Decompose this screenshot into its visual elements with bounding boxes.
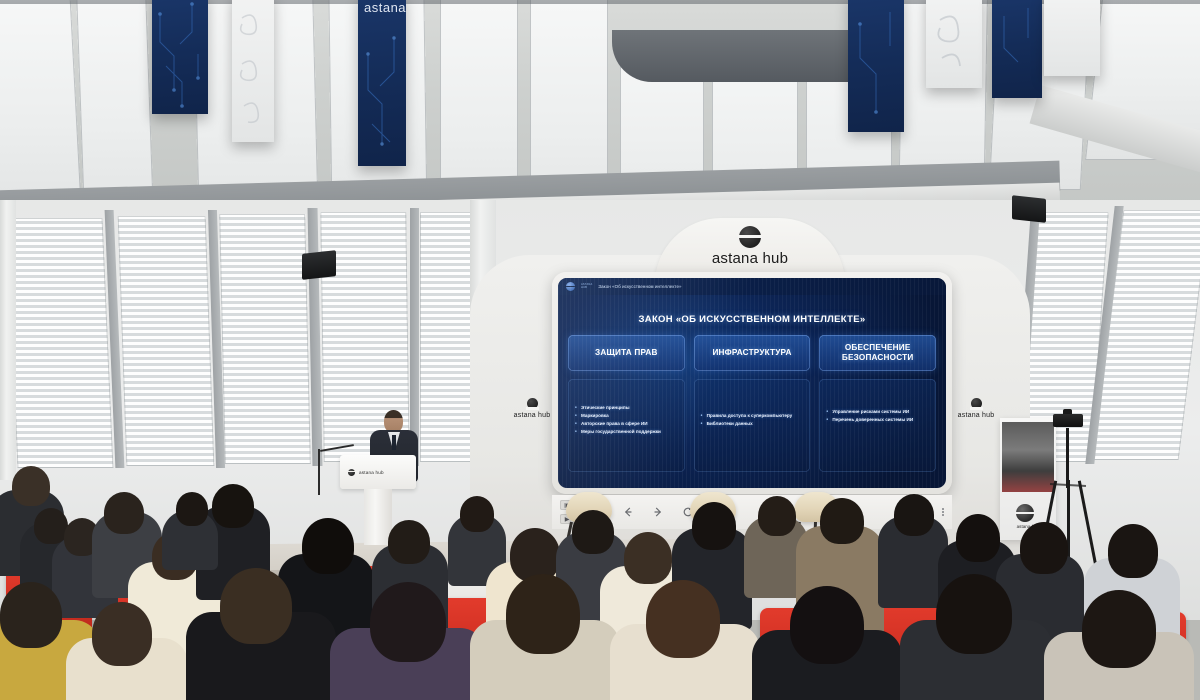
bullet-item: Этические принципы (575, 405, 679, 412)
ornament-pattern-icon (232, 0, 274, 142)
slide-title: ЗАКОН «ОБ ИСКУССТВЕННОМ ИНТЕЛЛЕКТЕ» (558, 314, 946, 325)
audience-person-head (460, 496, 494, 532)
ornament-pattern-icon (926, 0, 982, 88)
column-heading-2: ИНФРАСТРУКТУРА (694, 335, 811, 371)
stage-right-logo-text: astana hub (948, 412, 1004, 419)
conference-hall-photo: astana hub (0, 0, 1200, 700)
audience-person-head (572, 510, 614, 554)
wall-column (0, 200, 16, 480)
audience-person-head (1020, 522, 1068, 574)
bullet-item: Перечень доверенных системы ИИ (826, 417, 930, 424)
astana-hub-mark-icon (566, 282, 575, 291)
window-panel (118, 216, 215, 466)
presentation-screen[interactable]: ASTANA HUB Закон «Об искусственном интел… (558, 278, 946, 488)
astana-hub-mark-icon (739, 226, 761, 248)
column-body-3: Управление рисками системы ИИ Перечень д… (819, 379, 936, 472)
circuit-pattern-icon (358, 0, 406, 166)
stage-right-logo: astana hub (948, 398, 1004, 419)
slide-column-rights-protection: ЗАЩИТА ПРАВ Этические принципы Маркировк… (568, 335, 685, 472)
slide-breadcrumb: Закон «Об искусственном интеллекте» (598, 284, 681, 289)
audience-person-head (936, 574, 1012, 654)
audience-person-head (758, 496, 796, 536)
circuit-pattern-icon (992, 0, 1042, 98)
column-body-1: Этические принципы Маркировка Авторские … (568, 379, 685, 472)
audience-person-head (34, 508, 68, 544)
window-panel (219, 214, 311, 464)
audience-person-head (220, 568, 292, 644)
slide-header-bar: ASTANA HUB Закон «Об искусственном интел… (558, 278, 946, 295)
led-screen-frame: ASTANA HUB Закон «Об искусственном интел… (552, 272, 952, 494)
ceiling-glass-panel (0, 0, 82, 212)
audience-person-head (388, 520, 430, 564)
astana-hub-mark-icon (971, 398, 982, 409)
audience-person-head (1082, 590, 1156, 668)
bullet-item: Авторские права в сфере ИИ (575, 421, 679, 428)
audience-person-head (646, 580, 720, 658)
speaker-tie (392, 435, 396, 450)
hanging-banner-white (232, 0, 274, 142)
circuit-pattern-icon (152, 0, 208, 114)
audience-person-head (0, 582, 62, 648)
audience-person-head (212, 484, 254, 528)
slide-column-security: ОБЕСПЕЧЕНИЕ БЕЗОПАСНОСТИ Управление риск… (819, 335, 936, 472)
arch-logo-text: astana hub (655, 250, 845, 267)
audience-area (0, 470, 1200, 700)
hanging-banner-navy (992, 0, 1042, 98)
hanging-banner-white (926, 0, 982, 88)
astana-hub-mark-icon (527, 398, 538, 409)
audience-person-head (790, 586, 864, 664)
column-body-2: Правила доступа к суперкомпьютеру Библио… (694, 379, 811, 472)
bullet-item: Правила доступа к суперкомпьютеру (701, 413, 805, 420)
audience-person-head (692, 502, 736, 550)
hanging-banner-navy-titled: astana hub (358, 0, 406, 166)
audience-person-head (894, 494, 934, 536)
audience-person-head (302, 518, 354, 574)
bullet-item: Маркировка (575, 413, 679, 420)
audience-person-head (956, 514, 1000, 562)
stage-left-logo-text: astana hub (506, 412, 558, 419)
ceiling-speaker-icon (1012, 195, 1046, 223)
hanging-banner-navy (848, 0, 904, 132)
window-panel (7, 218, 114, 468)
audience-person-head (506, 574, 580, 654)
audience-person-head (104, 492, 144, 534)
audience-person-head (176, 492, 208, 526)
circuit-pattern-icon (848, 0, 904, 132)
bullet-item: Библиотеки данных (701, 421, 805, 428)
bullet-item: Управление рисками системы ИИ (826, 409, 930, 416)
column-heading-3: ОБЕСПЕЧЕНИЕ БЕЗОПАСНОСТИ (819, 335, 936, 371)
audience-person-head (820, 498, 864, 544)
window-panel (420, 212, 476, 462)
stage-left-logo: astana hub (506, 398, 558, 419)
audience-person-head (12, 466, 50, 506)
ceiling-speaker-icon (302, 250, 336, 280)
audience-person-head (92, 602, 152, 666)
slide-column-infrastructure: ИНФРАСТРУКТУРА Правила доступа к суперко… (694, 335, 811, 472)
slide-logo-text: ASTANA HUB (581, 284, 592, 290)
audience-person-head (624, 532, 672, 584)
bullet-item: Меры государственной поддержки (575, 429, 679, 436)
column-heading-1: ЗАЩИТА ПРАВ (568, 335, 685, 371)
hanging-banner-white (1044, 0, 1100, 76)
hanging-banner-navy (152, 0, 208, 114)
slide-columns: ЗАЩИТА ПРАВ Этические принципы Маркировк… (568, 335, 936, 472)
audience-person-head (1108, 524, 1158, 578)
audience-person-head (370, 582, 446, 662)
